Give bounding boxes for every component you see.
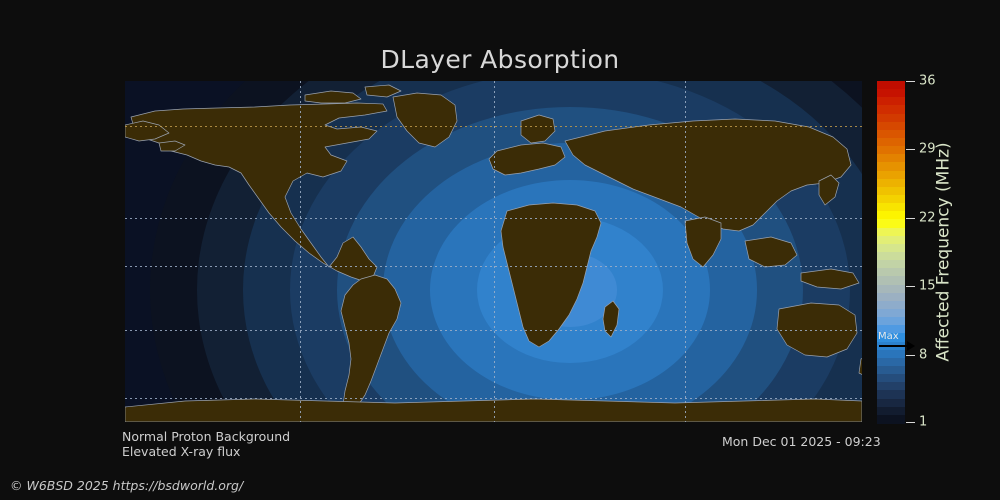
graticule-longitude-line [685,81,686,422]
colorbar-tick-mark [906,149,915,150]
max-marker-label: Max [878,331,899,342]
colorbar[interactable]: 3629221581 [877,81,905,423]
dlayer-absorption-figure: DLayer Absorption [0,0,1000,500]
xray-status-label: Elevated X-ray flux [122,444,240,459]
world-map[interactable] [125,81,862,422]
colorbar-tick-mark [906,218,915,219]
colorbar-gradient [877,81,905,423]
graticule-layer [125,81,862,422]
colorbar-tick-mark [906,422,915,423]
colorbar-axis-title-text: Affected Frequency (MHz) [934,142,954,361]
colorbar-tick-label: 1 [919,415,927,430]
colorbar-axis-title: Affected Frequency (MHz) [932,81,956,423]
page-title: DLayer Absorption [0,45,1000,74]
graticule-longitude-line [494,81,495,422]
copyright-label: © W6BSD 2025 https://bsdworld.org/ [10,478,243,493]
colorbar-segment [877,415,905,424]
colorbar-tick-mark [906,81,915,82]
max-marker-arrow-line [879,345,909,347]
proton-status-label: Normal Proton Background [122,429,290,444]
timestamp-label: Mon Dec 01 2025 - 09:23 [722,434,881,449]
graticule-longitude-line [300,81,301,422]
colorbar-max-marker: Max [878,331,918,357]
max-marker-arrow-head [907,341,915,351]
colorbar-tick-mark [906,286,915,287]
colorbar-tick-label: 8 [919,347,927,362]
